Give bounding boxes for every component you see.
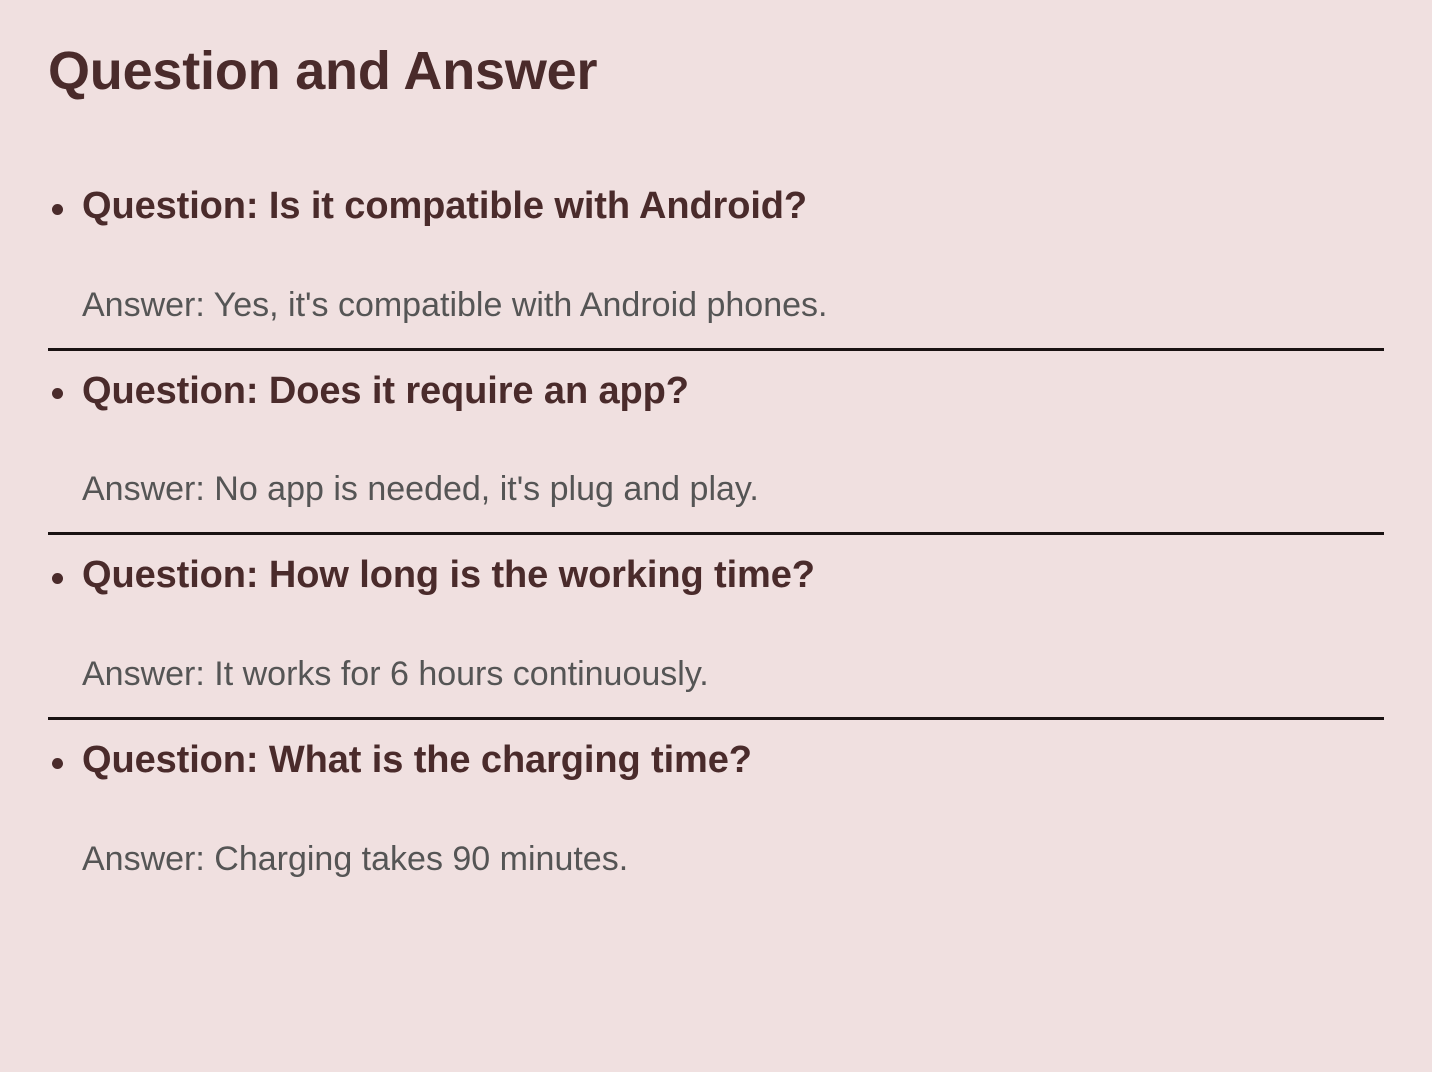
qa-item: Question: How long is the working time? … <box>48 532 1384 717</box>
qa-item: Question: Does it require an app? Answer… <box>48 348 1384 533</box>
qa-question-text: Question: How long is the working time? <box>82 554 815 596</box>
qa-item: Question: What is the charging time? Ans… <box>48 717 1384 902</box>
qa-answer: Answer: Charging takes 90 minutes. <box>48 839 1384 880</box>
qa-answer: Answer: It works for 6 hours continuousl… <box>48 654 1384 695</box>
qa-item: Question: Is it compatible with Android?… <box>48 170 1384 348</box>
qa-question: Question: How long is the working time? <box>48 553 1384 598</box>
page-title: Question and Answer <box>48 40 597 102</box>
bullet-dot-icon <box>52 388 63 399</box>
qa-question-text: Question: What is the charging time? <box>82 739 752 781</box>
qa-question: Question: Is it compatible with Android? <box>48 184 1384 229</box>
qa-page: Question and Answer Question: Is it comp… <box>0 0 1432 1072</box>
bullet-dot-icon <box>52 204 63 215</box>
qa-answer: Answer: Yes, it's compatible with Androi… <box>48 285 1384 326</box>
bullet-dot-icon <box>52 758 63 769</box>
qa-question-text: Question: Is it compatible with Android? <box>82 185 807 227</box>
qa-question-text: Question: Does it require an app? <box>82 370 689 412</box>
bullet-dot-icon <box>52 573 63 584</box>
qa-question: Question: What is the charging time? <box>48 738 1384 783</box>
qa-list: Question: Is it compatible with Android?… <box>48 170 1384 902</box>
qa-question: Question: Does it require an app? <box>48 369 1384 414</box>
qa-answer: Answer: No app is needed, it's plug and … <box>48 469 1384 510</box>
